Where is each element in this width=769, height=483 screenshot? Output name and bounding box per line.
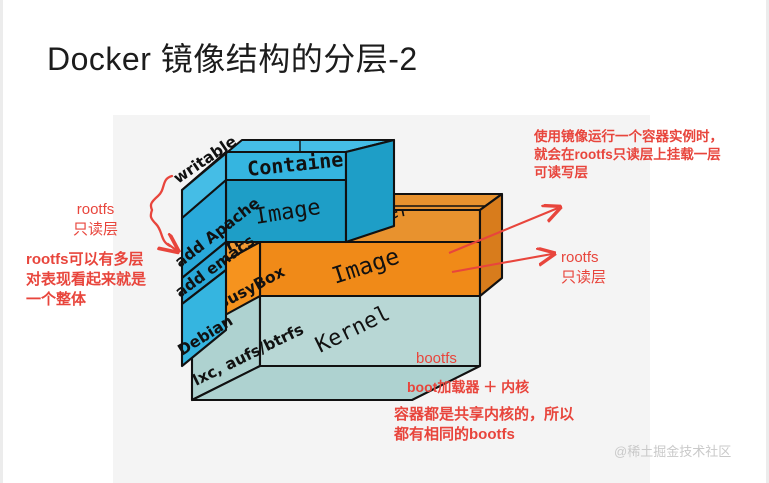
annotation-bootfs: bootfs	[416, 349, 457, 369]
annotation-boot-loader: boot加载器 ＋ 内核	[407, 378, 529, 396]
annotation-rootfs-left: rootfs 只读层	[73, 200, 118, 240]
slide-root: Docker 镜像结构的分层-2 lxc, aufs/btrfs Kernel …	[0, 0, 769, 483]
annotation-rootfs-multilayer: rootfs可以有多层 对表现看起来就是 一个整体	[26, 250, 146, 309]
annotation-shared-kernel: 容器都是共享内核的，所以 都有相同的bootfs	[394, 405, 574, 445]
annotation-rootfs-right: rootfs 只读层	[561, 248, 606, 288]
page-title: Docker 镜像结构的分层-2	[47, 34, 418, 80]
annotation-writable-mount: 使用镜像运行一个容器实例时， 就会在rootfs只读层上挂载一层 可读写层	[534, 128, 723, 181]
slide-left-rail	[0, 0, 3, 483]
watermark: @稀土掘金技术社区	[614, 441, 731, 460]
